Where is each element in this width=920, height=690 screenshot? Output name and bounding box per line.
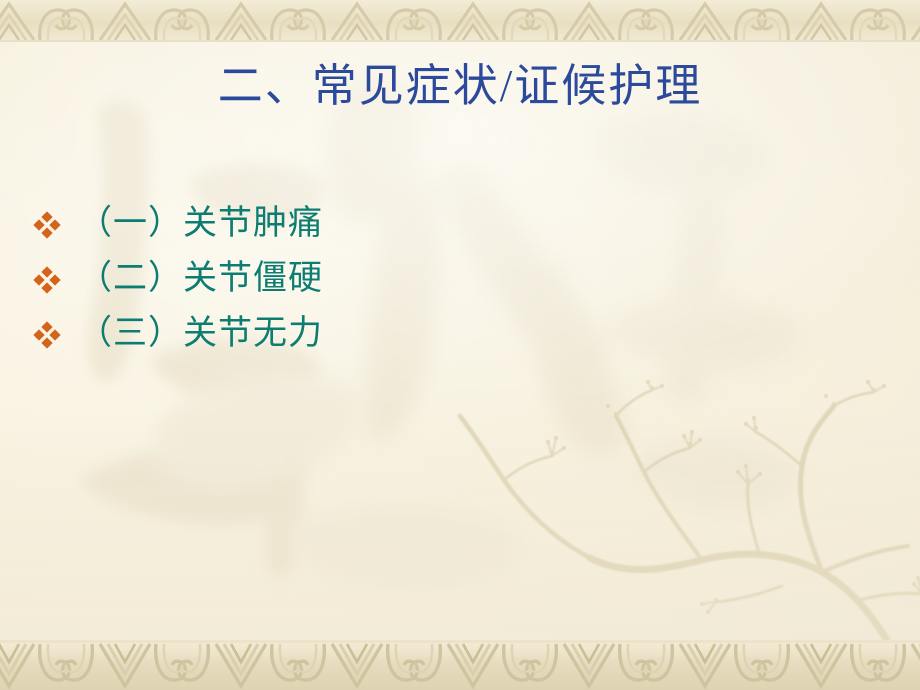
list-item[interactable]: （三）关节无力	[34, 306, 554, 361]
slide-canvas: 二、常见症状/证候护理 （一）关节肿痛 （二）关节僵硬 （三）关节无力	[0, 0, 920, 690]
diamond-cluster-bullet-icon	[34, 211, 60, 237]
list-item[interactable]: （一）关节肿痛	[34, 196, 554, 251]
list-item[interactable]: （二）关节僵硬	[34, 251, 554, 306]
diamond-cluster-bullet-icon	[34, 266, 60, 292]
list-item-label: （三）关节无力	[78, 315, 323, 352]
diamond-cluster-bullet-icon	[34, 321, 60, 347]
symptom-bullet-list: （一）关节肿痛 （二）关节僵硬 （三）关节无力	[34, 196, 554, 361]
slide-content: 二、常见症状/证候护理 （一）关节肿痛 （二）关节僵硬 （三）关节无力	[0, 0, 920, 690]
page-title: 二、常见症状/证候护理	[0, 60, 920, 113]
list-item-label: （二）关节僵硬	[78, 260, 323, 297]
list-item-label: （一）关节肿痛	[78, 205, 323, 242]
